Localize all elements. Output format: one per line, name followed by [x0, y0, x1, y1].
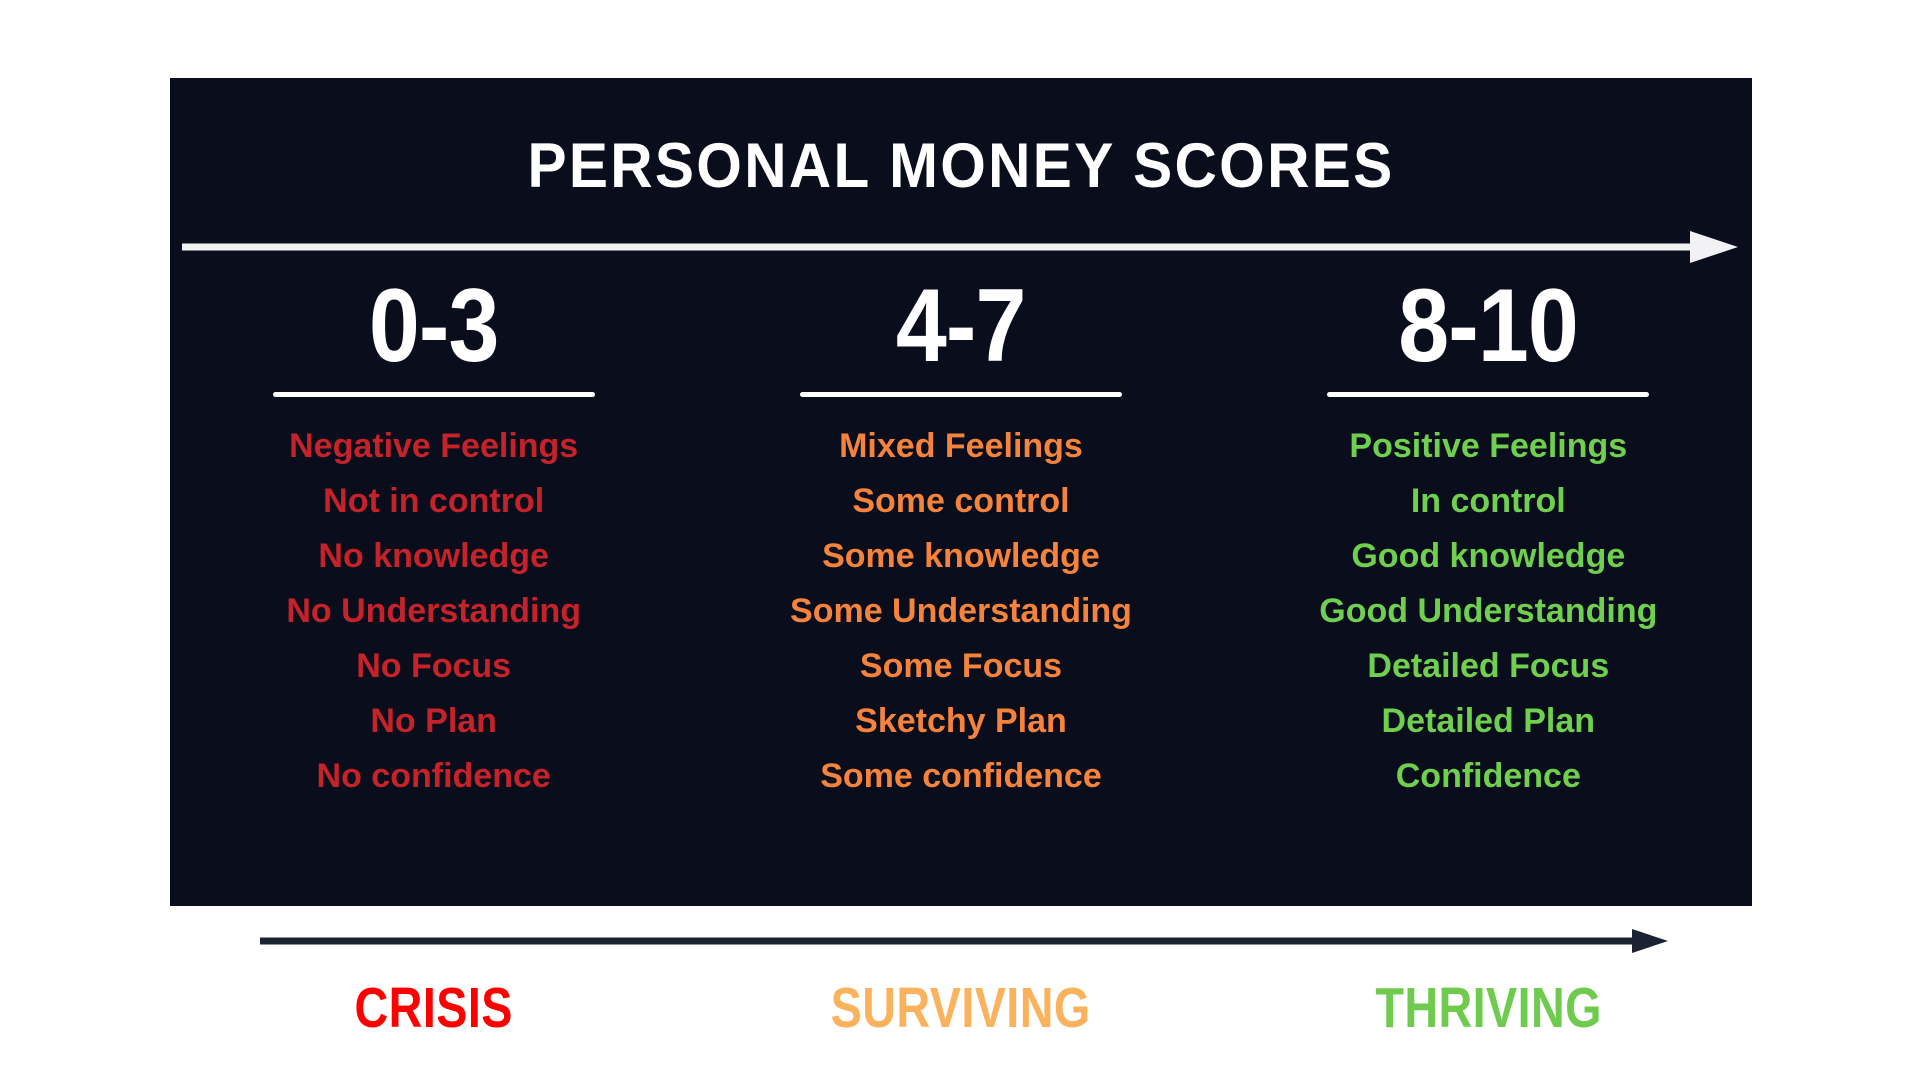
list-item: Detailed Plan	[1382, 694, 1596, 749]
stage-label-thriving: THRIVING	[1272, 975, 1704, 1055]
page-title: PERSONAL MONEY SCORES	[225, 130, 1696, 202]
list-item: Some control	[852, 474, 1069, 529]
list-item: Not in control	[323, 474, 544, 529]
list-item: Mixed Feelings	[839, 419, 1083, 474]
score-range-label: 4-7	[896, 274, 1026, 378]
list-item: Good Understanding	[1319, 584, 1657, 639]
list-item: No knowledge	[318, 529, 548, 584]
list-item: In control	[1411, 474, 1566, 529]
list-item: Some Focus	[860, 639, 1062, 694]
infographic-root: PERSONAL MONEY SCORES 0-3 Negative Feeli…	[0, 0, 1920, 1080]
list-item: Sketchy Plan	[855, 694, 1067, 749]
progression-arrow-top-icon	[182, 227, 1742, 267]
progression-arrow-bottom-icon	[260, 925, 1670, 961]
stage-label-surviving: SURVIVING	[745, 975, 1177, 1055]
list-item: Negative Feelings	[289, 419, 578, 474]
stage-labels: CRISIS SURVIVING THRIVING	[170, 975, 1752, 1055]
score-range-label: 8-10	[1398, 274, 1578, 378]
list-item: Some Understanding	[790, 584, 1132, 639]
score-range-label: 0-3	[369, 274, 499, 378]
list-item: No confidence	[317, 749, 551, 804]
list-item: Some confidence	[820, 749, 1102, 804]
score-column-0-3: 0-3 Negative Feelings Not in control No …	[170, 274, 697, 874]
list-item: No Understanding	[286, 584, 581, 639]
score-column-4-7: 4-7 Mixed Feelings Some control Some kno…	[697, 274, 1224, 874]
score-column-8-10: 8-10 Positive Feelings In control Good k…	[1225, 274, 1752, 874]
list-item: No Focus	[356, 639, 511, 694]
score-range-underline	[273, 392, 595, 397]
list-item: Positive Feelings	[1349, 419, 1627, 474]
dark-panel: PERSONAL MONEY SCORES 0-3 Negative Feeli…	[170, 78, 1752, 906]
list-item: Good knowledge	[1351, 529, 1625, 584]
score-attribute-list: Positive Feelings In control Good knowle…	[1319, 419, 1657, 804]
list-item: No Plan	[370, 694, 497, 749]
score-attribute-list: Negative Feelings Not in control No know…	[286, 419, 581, 804]
score-attribute-list: Mixed Feelings Some control Some knowled…	[790, 419, 1132, 804]
score-range-underline	[800, 392, 1122, 397]
list-item: Detailed Focus	[1367, 639, 1609, 694]
score-columns: 0-3 Negative Feelings Not in control No …	[170, 274, 1752, 874]
list-item: Confidence	[1396, 749, 1581, 804]
score-range-underline	[1327, 392, 1649, 397]
stage-label-crisis: CRISIS	[217, 975, 649, 1055]
list-item: Some knowledge	[822, 529, 1100, 584]
